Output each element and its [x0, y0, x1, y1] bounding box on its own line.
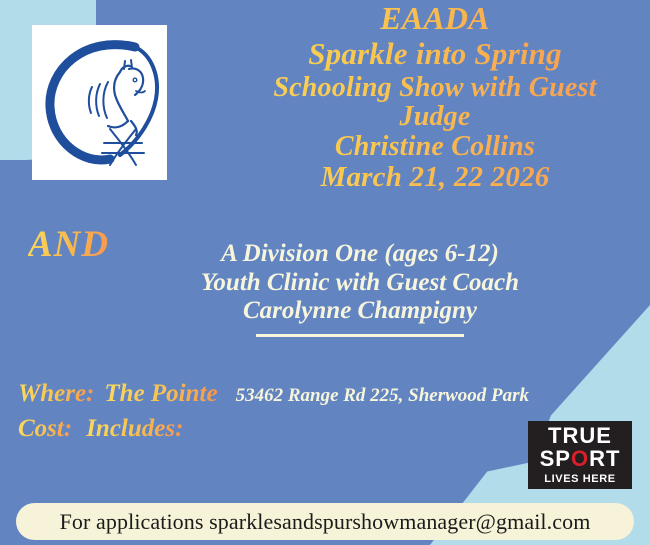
- headline-show-line: Schooling Show with Guest: [235, 73, 635, 103]
- true-sport-logo: TRUE SPORT LIVES HERE: [528, 421, 632, 489]
- includes-label: Includes:: [86, 415, 183, 443]
- clinic-block: A Division One (ages 6-12) Youth Clinic …: [140, 240, 580, 337]
- true-sport-o-mark: O: [571, 446, 589, 471]
- where-value: The Pointe: [104, 380, 217, 408]
- and-connector: AND: [28, 223, 109, 266]
- headline-judge-word: Judge: [235, 102, 635, 132]
- headline-dates: March 21, 22 2026: [235, 162, 635, 193]
- headline-event-title: Sparkle into Spring: [235, 38, 635, 71]
- true-sport-sp: SP: [540, 446, 571, 471]
- true-sport-tagline: LIVES HERE: [544, 474, 615, 485]
- headline-block: EAADA Sparkle into Spring Schooling Show…: [235, 2, 635, 193]
- eaada-logo: [32, 25, 167, 180]
- headline-judge-name: Christine Collins: [235, 132, 635, 162]
- headline-org: EAADA: [235, 2, 635, 36]
- footer-contact-text: For applications sparklesandspurshowmana…: [60, 509, 591, 535]
- footer-contact-bar: For applications sparklesandspurshowmana…: [16, 503, 634, 540]
- where-label: Where:: [18, 380, 94, 408]
- cost-row: Cost: Includes:: [18, 415, 183, 443]
- clinic-coach-line: Youth Clinic with Guest Coach: [140, 269, 580, 298]
- clinic-coach-name: Carolynne Champigny: [140, 297, 580, 326]
- clinic-underline: [256, 334, 464, 337]
- clinic-division-line: A Division One (ages 6-12): [140, 240, 580, 269]
- true-sport-rt: RT: [589, 446, 620, 471]
- true-sport-sport-text: SPORT: [540, 447, 621, 470]
- where-row: Where: The Pointe 53462 Range Rd 225, Sh…: [18, 380, 529, 408]
- cost-label: Cost:: [18, 415, 72, 443]
- venue-address: 53462 Range Rd 225, Sherwood Park: [236, 385, 529, 407]
- true-sport-true-text: TRUE: [548, 425, 612, 447]
- poster-canvas: EAADA Sparkle into Spring Schooling Show…: [0, 0, 650, 545]
